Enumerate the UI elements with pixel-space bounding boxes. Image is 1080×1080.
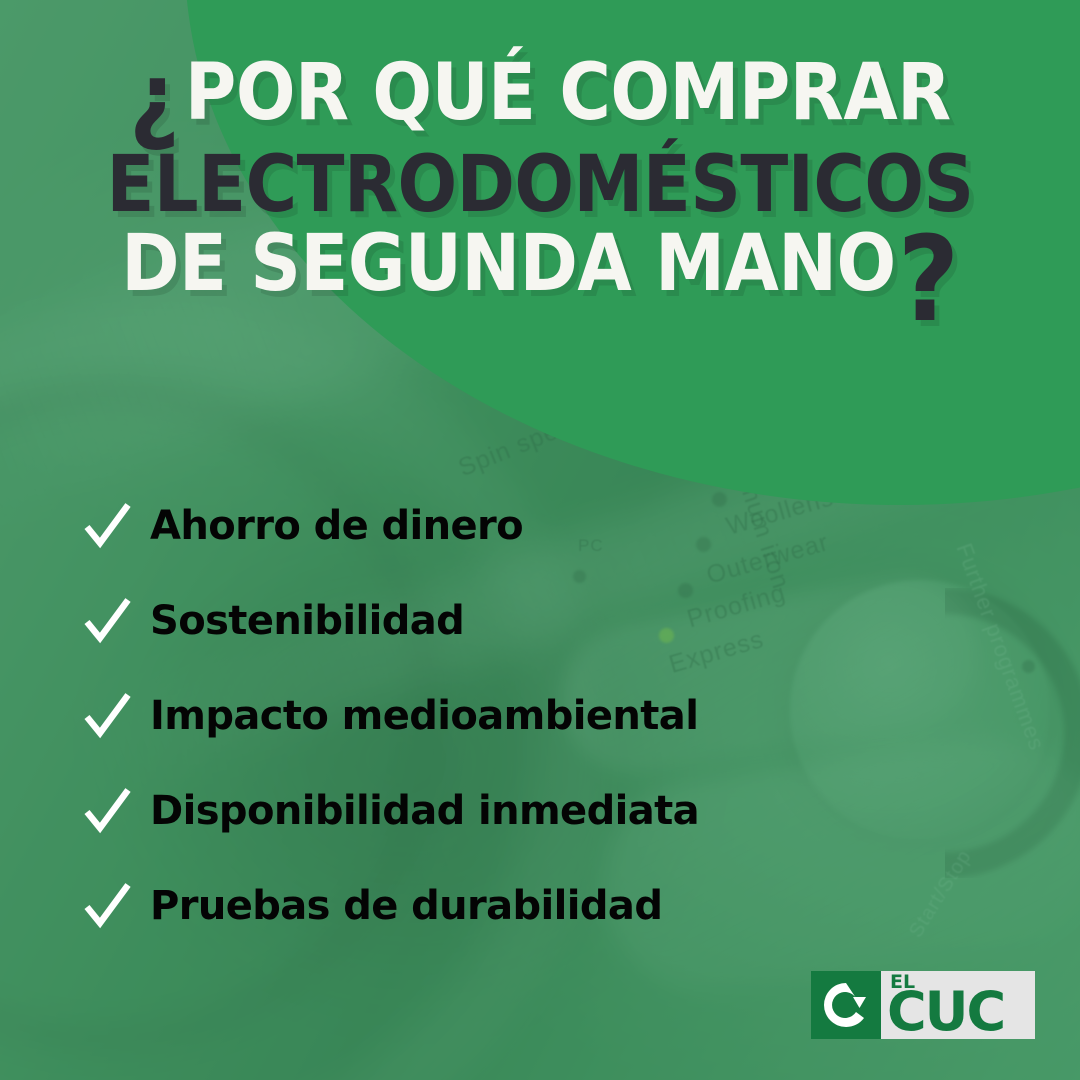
list-item-label: Ahorro de dinero [150, 503, 523, 549]
headline-line-2-text: ELECTRODOMÉSTICOS [106, 140, 973, 230]
check-icon [78, 687, 136, 745]
list-item: Disponibilidad inmediata [78, 763, 938, 858]
opening-question-mark: ¿ [129, 42, 179, 154]
logo-mark [811, 971, 881, 1039]
benefits-list: Ahorro de dinero Sostenibilidad Impacto … [78, 478, 938, 953]
headline-line-1-text: POR QUÉ COMPRAR [185, 48, 951, 138]
list-item-label: Impacto medioambiental [150, 693, 698, 739]
brand-logo[interactable]: EL CUC [811, 971, 1035, 1039]
check-icon [78, 592, 136, 650]
logo-wordmark: EL CUC [881, 971, 1035, 1039]
check-icon [78, 782, 136, 840]
recycle-c-icon [818, 977, 874, 1033]
check-icon [78, 877, 136, 935]
list-item: Impacto medioambiental [78, 668, 938, 763]
list-item: Sostenibilidad [78, 573, 938, 668]
list-item-label: Disponibilidad inmediata [150, 788, 699, 834]
check-icon [78, 497, 136, 555]
headline-line-3: DE SEGUNDA MANO? [0, 227, 1080, 302]
headline-line-3-text: DE SEGUNDA MANO [121, 219, 895, 309]
list-item-label: Pruebas de durabilidad [150, 883, 662, 929]
poster-canvas: Spin speed Minimum iron Woollens Outerwe… [0, 0, 1080, 1080]
headline-line-1: ¿POR QUÉ COMPRAR [0, 52, 1080, 144]
logo-el-text: EL [890, 973, 915, 992]
closing-question-mark: ? [898, 210, 959, 348]
list-item-label: Sostenibilidad [150, 598, 464, 644]
page-title: ¿POR QUÉ COMPRAR ELECTRODOMÉSTICOS DE SE… [0, 52, 1080, 302]
list-item: Ahorro de dinero [78, 478, 938, 573]
list-item: Pruebas de durabilidad [78, 858, 938, 953]
